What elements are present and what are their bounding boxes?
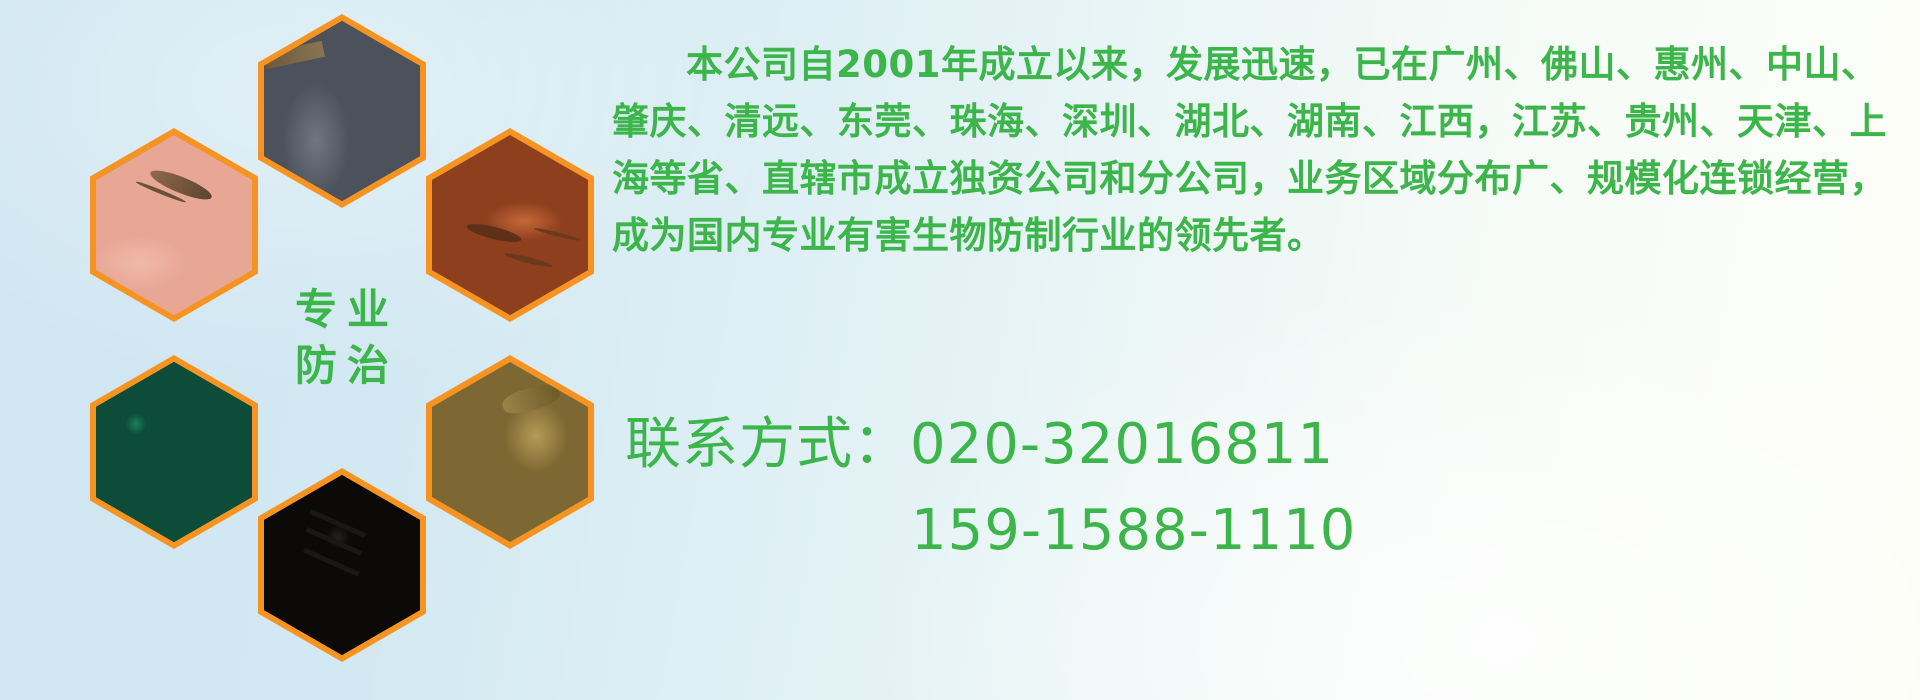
contact-phone-landline[interactable]: 联系方式：020-32016811 — [625, 402, 1915, 488]
slogan-line-1: 专业 — [285, 289, 399, 331]
cockroach-photo — [432, 135, 588, 315]
mosquito-photo — [96, 135, 252, 315]
hex-cell-cockroach — [426, 128, 594, 322]
ant-photo — [264, 475, 420, 655]
hex-center-slogan: 专业 防治 — [258, 241, 426, 435]
hex-image-mask-rats — [264, 21, 420, 201]
hex-cell-stink-bug — [426, 355, 594, 549]
rats-photo — [264, 21, 420, 201]
flies-photo — [96, 362, 252, 542]
hex-image-mask-mosquito — [96, 135, 252, 315]
promo-banner: 专业 防治 本公司自2001年成立以来，发展迅速，已在广州、佛山、惠州、中山、肇… — [0, 0, 1920, 700]
hex-cell-mosquito — [90, 128, 258, 322]
about-paragraph: 本公司自2001年成立以来，发展迅速，已在广州、佛山、惠州、中山、肇庆、清远、东… — [612, 36, 1902, 264]
contact-block: 联系方式：020-32016811 159-1588-1110 — [625, 402, 1915, 574]
hexagon-cluster: 专业 防治 — [90, 8, 590, 560]
hex-image-mask-flies — [96, 362, 252, 542]
hex-image-mask-stink-bug — [432, 362, 588, 542]
hex-cell-rats — [258, 14, 426, 208]
hex-image-mask-cockroach — [432, 135, 588, 315]
contact-phone-mobile[interactable]: 159-1588-1110 — [625, 488, 1915, 574]
slogan-line-2: 防治 — [285, 345, 399, 387]
hex-cell-flies — [90, 355, 258, 549]
copy-column: 本公司自2001年成立以来，发展迅速，已在广州、佛山、惠州、中山、肇庆、清远、东… — [612, 36, 1902, 264]
hex-cell-ant — [258, 468, 426, 662]
hex-image-mask-ant — [264, 475, 420, 655]
stink-bug-photo — [432, 362, 588, 542]
